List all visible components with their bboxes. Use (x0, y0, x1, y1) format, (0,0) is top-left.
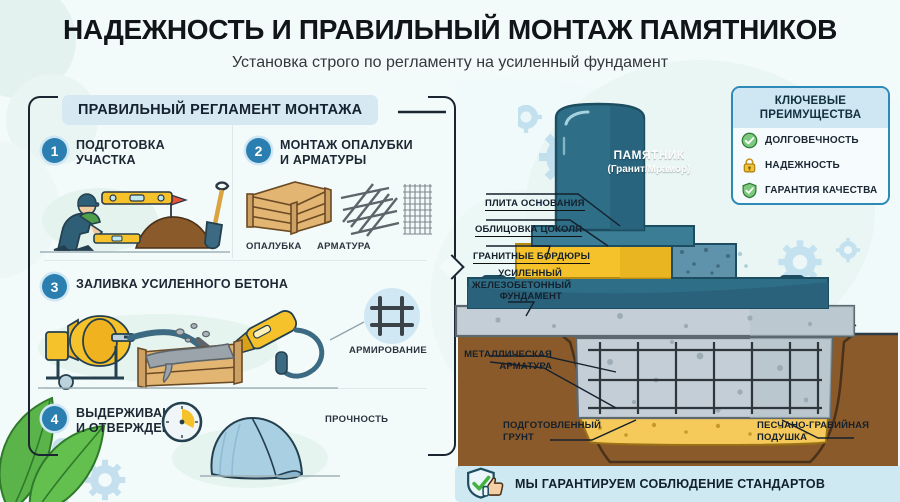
step-2-caption-2: АРМАТУРА (317, 241, 371, 252)
concrete-mixer-icon (38, 296, 338, 391)
divider-1 (44, 260, 426, 261)
guarantee-banner: МЫ ГАРАНТИРУЕМ СОБЛЮДЕНИЕ СТАНДАРТОВ (455, 466, 900, 502)
check-circle-icon (741, 132, 758, 149)
callout-base-slab: ПЛИТА ОСНОВАНИЯ (485, 186, 585, 209)
callout-prepared-soil: ПОДГОТОВЛЕННЫЙ ГРУНТ (503, 420, 608, 443)
step-1-number: 1 (42, 138, 67, 163)
lock-icon (741, 157, 758, 174)
step-3-caption-1: АРМИРОВАНИЕ (349, 345, 427, 356)
monument-subtitle: (Гранит/Мрамор) (589, 164, 709, 175)
callout-sand-gravel-bed: ПЕСЧАНО-ГРАВИЙНАЯ ПОДУШКА (757, 420, 892, 443)
step-2-caption-1: ОПАЛУБКА (246, 241, 302, 252)
step-3-label: ЗАЛИВКА УСИЛЕННОГО БЕТОНА (76, 277, 336, 292)
covered-curing-icon (160, 398, 360, 488)
key-advantages-box: КЛЮЧЕВЫЕ ПРЕИМУЩЕСТВА ДОЛГОВЕЧНОСТЬ НАДЕ… (731, 86, 890, 205)
key-advantages-title: КЛЮЧЕВЫЕ ПРЕИМУЩЕСТВА (733, 88, 888, 128)
callout-metal-rebar: МЕТАЛЛИЧЕСКАЯ АРМАТУРА (462, 349, 552, 372)
step-4-number: 4 (42, 406, 67, 431)
advantage-label-quality: ГАРАНТИЯ КАЧЕСТВА (765, 185, 877, 196)
advantage-item-quality-guarantee[interactable]: ГАРАНТИЯ КАЧЕСТВА (733, 178, 888, 203)
reinforcement-callout-icon (330, 282, 450, 352)
step-2-number: 2 (246, 138, 271, 163)
divider-vertical (232, 122, 233, 258)
worker-level-shovel-icon (40, 172, 230, 257)
callout-granite-curbs: ГРАНИТНЫЕ БОРДЮРЫ (473, 239, 590, 262)
advantage-label-durability: ДОЛГОВЕЧНОСТЬ (765, 135, 859, 146)
step-4-caption-1: ПРОЧНОСТЬ (325, 414, 388, 425)
guarantee-banner-text: МЫ ГАРАНТИРУЕМ СОБЛЮДЕНИЕ СТАНДАРТОВ (515, 477, 825, 491)
shield-thumbsup-icon (465, 467, 507, 501)
step-1-label: ПОДГОТОВКА УЧАСТКА (76, 138, 226, 168)
infographic-canvas: НАДЕЖНОСТЬ И ПРАВИЛЬНЫЙ МОНТАЖ ПАМЯТНИКО… (0, 0, 900, 502)
callout-plinth-cladding: ОБЛИЦОВКА ЦОКОЛЯ (475, 212, 582, 235)
left-panel-title: ПРАВИЛЬНЫЙ РЕГЛАМЕНТ МОНТАЖА (62, 95, 378, 125)
callout-reinforced-foundation: УСИЛЕННЫЙ ЖЕЛЕЗОБЕТОННЫЙ ФУНДАМЕНТ (472, 268, 562, 303)
advantage-label-reliability: НАДЕЖНОСТЬ (765, 160, 840, 171)
page-subtitle: Установка строго по регламенту на усилен… (0, 54, 900, 72)
shield-check-icon (741, 182, 758, 199)
monument-title: ПАМЯТНИК (589, 148, 709, 162)
formwork-rebar-icon (243, 172, 433, 242)
step-2-label: МОНТАЖ ОПАЛУБКИ И АРМАТУРЫ (280, 138, 440, 168)
page-title: НАДЕЖНОСТЬ И ПРАВИЛЬНЫЙ МОНТАЖ ПАМЯТНИКО… (0, 14, 900, 46)
advantage-item-reliability[interactable]: НАДЕЖНОСТЬ (733, 153, 888, 178)
advantage-item-durability[interactable]: ДОЛГОВЕЧНОСТЬ (733, 128, 888, 153)
